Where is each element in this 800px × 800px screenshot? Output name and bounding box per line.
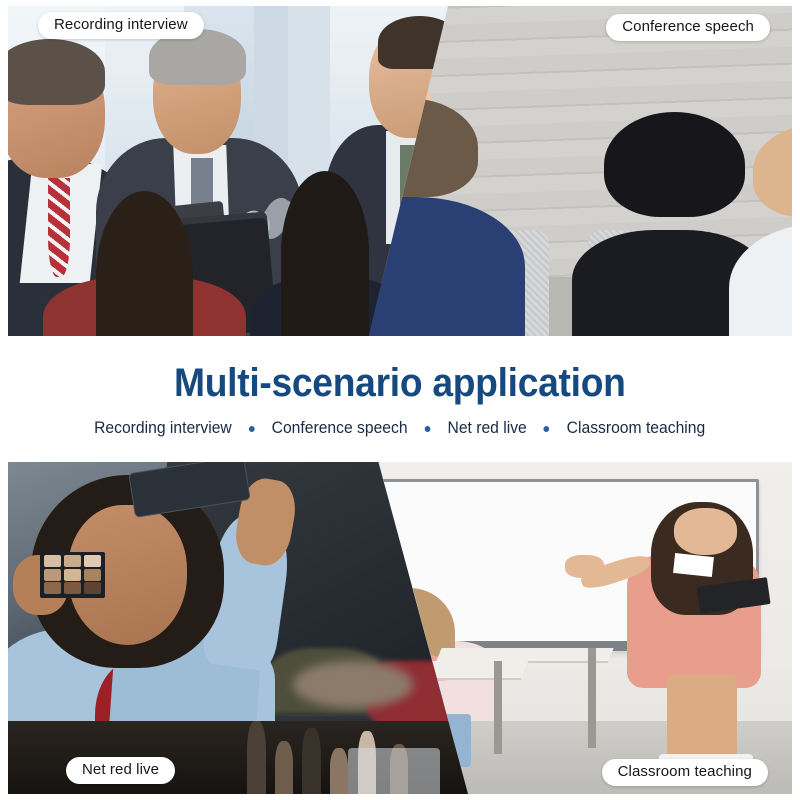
palette-swatch [84, 569, 101, 581]
palette-swatch [44, 555, 61, 567]
teacher-head [674, 508, 737, 554]
makeup-palette [40, 552, 104, 598]
palette-swatch [44, 569, 61, 581]
promo-banner: Recording interview Conference speech Mu… [0, 0, 800, 800]
label-classroom-teaching: Classroom teaching [602, 759, 768, 786]
label-conference-speech: Conference speech [606, 14, 770, 41]
label-net-red-live: Net red live [66, 757, 175, 784]
journalist-left-tie [48, 178, 70, 277]
palette-swatch [44, 582, 61, 594]
foreground-person-head [281, 171, 369, 336]
palette-swatch [64, 582, 81, 594]
desk-leg [588, 648, 596, 748]
scenario-item-4: Classroom teaching [558, 419, 714, 438]
journalist-left-hair [8, 39, 105, 105]
top-image-panel: Recording interview Conference speech [8, 6, 792, 336]
teacher-legs [667, 674, 738, 760]
bottom-image-panel: Net red live Classroom teaching [8, 462, 792, 794]
blurred-makeup-brush [293, 661, 413, 707]
label-recording-interview: Recording interview [38, 12, 204, 39]
text-band: Multi-scenario application Recording int… [0, 336, 800, 462]
scenario-list: Recording interview Conference speech Ne… [86, 419, 714, 438]
scenario-item-2: Conference speech [263, 419, 416, 438]
palette-swatch [84, 555, 101, 567]
bullet-separator-icon [425, 426, 431, 432]
audience-member-head [604, 112, 745, 218]
makeup-brush [330, 748, 348, 794]
scenario-item-1: Recording interview [86, 419, 241, 438]
bullet-separator-icon [544, 426, 550, 432]
palette-swatch [64, 555, 81, 567]
teacher-hand [565, 555, 604, 578]
teacher-collar [673, 553, 714, 577]
bullet-separator-icon [249, 426, 255, 432]
makeup-brush [275, 741, 293, 794]
palette-swatch [64, 569, 81, 581]
page-title: Multi-scenario application [174, 361, 626, 405]
audience-member-body [729, 224, 792, 336]
scenario-item-3: Net red live [439, 419, 535, 438]
palette-swatch [84, 582, 101, 594]
makeup-brush [302, 728, 320, 794]
desk-leg [494, 661, 502, 754]
brush-holder-cup [348, 748, 440, 794]
makeup-brush [247, 721, 265, 794]
audience-member-head [753, 125, 792, 217]
